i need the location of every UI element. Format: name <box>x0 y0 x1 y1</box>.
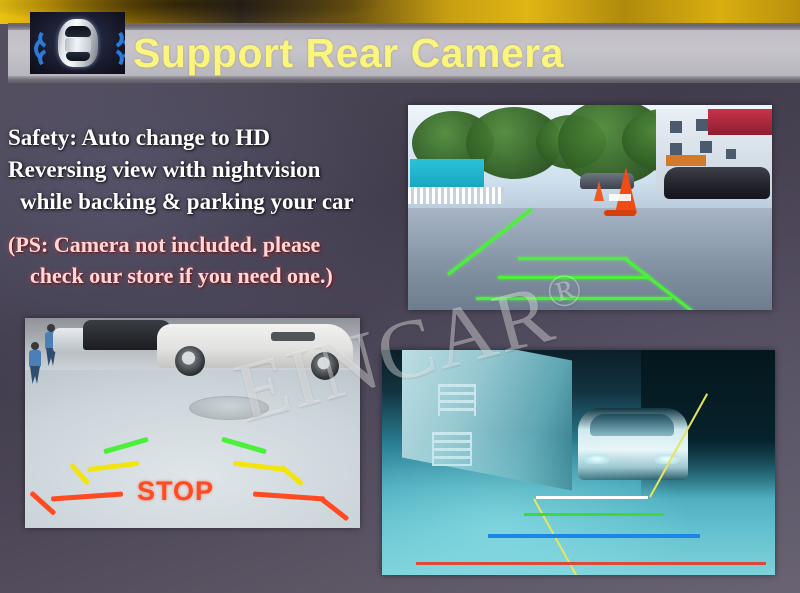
note-block: (PS: Camera not included. please check o… <box>8 229 418 291</box>
daytime-rear-view-image <box>408 105 772 310</box>
dark-parked-car <box>664 167 770 199</box>
traffic-cone <box>615 167 637 213</box>
van-wheel <box>311 352 339 380</box>
pedestrian-head <box>31 342 39 350</box>
van-window <box>271 332 315 341</box>
description-line-2: Reversing view with nightvision <box>8 154 408 186</box>
note-line-1: (PS: Camera not included. please <box>8 229 418 260</box>
building-window <box>726 149 736 159</box>
guideline-rung-mid <box>498 276 650 279</box>
note-line-2: check our store if you need one.) <box>8 260 418 291</box>
guideline-rung-near <box>476 297 672 300</box>
pedestrian-torso <box>29 350 41 368</box>
guideline-rung-far <box>518 257 628 260</box>
traffic-cone-distant <box>594 181 604 201</box>
car-windshield-rear <box>66 52 90 61</box>
van-wheel <box>175 346 205 376</box>
building-window <box>670 121 682 133</box>
building-window <box>700 141 712 153</box>
description-line-3: while backing & parking your car <box>8 186 408 218</box>
manhole-cover <box>189 396 269 420</box>
shop-sign <box>666 155 706 166</box>
guideline-rung-red <box>416 562 766 565</box>
guideline-rung-green <box>524 513 664 516</box>
building-window <box>670 143 682 155</box>
car-roof <box>65 38 91 52</box>
car-windshield-front <box>65 26 91 37</box>
ir-illumination-glow <box>382 350 775 575</box>
traffic-cone-base <box>604 210 636 216</box>
car-parking-sensor-icon <box>30 12 125 74</box>
nightvision-rear-view-image <box>382 350 775 575</box>
stop-overlay-text: STOP <box>137 476 214 507</box>
promo-banner: Support Rear Camera Safety: Auto change … <box>0 0 800 593</box>
fisheye-parking-view-image: STOP <box>25 318 360 528</box>
description-line-1: Safety: Auto change to HD <box>8 122 408 154</box>
traffic-cone-band <box>609 194 631 201</box>
white-fence <box>408 187 504 204</box>
guideline-rung-blue <box>488 534 700 538</box>
guideline-rung-white <box>536 496 648 499</box>
page-title: Support Rear Camera <box>133 22 564 84</box>
description-block: Safety: Auto change to HD Reversing view… <box>8 122 408 218</box>
building-window <box>696 119 708 131</box>
pedestrian <box>27 342 39 376</box>
shop-awning <box>708 109 772 135</box>
